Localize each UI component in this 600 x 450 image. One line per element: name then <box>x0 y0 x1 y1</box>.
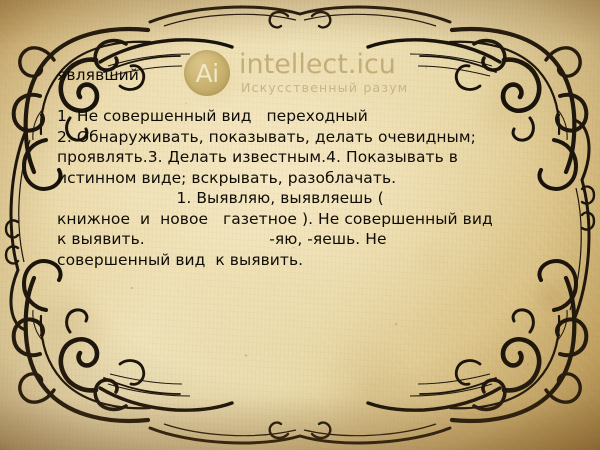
entry-definition: 1. Не совершенный вид переходный 2. Обна… <box>57 106 557 270</box>
logo-badge-text: Ai <box>195 61 218 86</box>
definition-line: совершенный вид к выявить. <box>57 250 557 271</box>
definition-line: к выявить. -яю, -яешь. Не <box>57 229 557 250</box>
watermark: Ai intellect.icu Искусственный разум <box>184 50 408 96</box>
watermark-wordmark: intellect.icu Искусственный разум <box>239 51 408 95</box>
intellect-logo-icon: Ai <box>184 50 230 96</box>
parchment-page: Ai intellect.icu Искусственный разум явл… <box>0 0 600 450</box>
definition-line: истинном виде; вскрывать, разоблачать. <box>57 168 557 189</box>
entry-headword: являвший <box>57 66 139 84</box>
watermark-title: intellect.icu <box>239 51 408 78</box>
watermark-subtitle: Искусственный разум <box>239 82 408 95</box>
definition-line: 1. Выявляю, выявляешь ( <box>57 188 557 209</box>
definition-line: проявлять.3. Делать известным.4. Показыв… <box>57 147 557 168</box>
definition-line: 1. Не совершенный вид переходный <box>57 106 557 127</box>
definition-line: книжное и новое газетное ). Не совершенн… <box>57 209 557 230</box>
definition-line: 2. Обнаруживать, показывать, делать очев… <box>57 127 557 148</box>
